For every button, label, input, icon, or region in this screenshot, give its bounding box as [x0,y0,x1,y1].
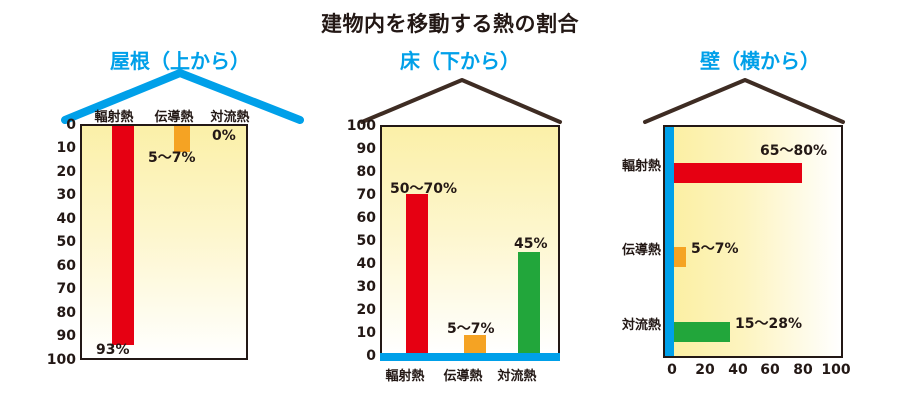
xtick-wall-60: 60 [755,362,785,378]
xtick-wall-0: 0 [657,362,687,378]
ytick-roof-20: 20 [40,164,76,180]
ytick-floor-100: 100 [330,118,376,134]
panel-roof: 屋根（上から） 輻射熱 伝導熱 対流熱 0 10 20 30 40 50 60 … [40,40,320,385]
category-label-wall-0: 輻射熱 [615,155,661,174]
panel-wall-title: 壁（横から） [645,45,875,74]
bar-floor-convection [518,252,540,353]
ytick-roof-30: 30 [40,187,76,203]
ytick-floor-90: 90 [330,141,376,157]
value-label-wall-radiant: 65〜80% [760,140,827,160]
page-title: 建物内を移動する熱の割合 [0,8,900,38]
ytick-floor-60: 60 [330,210,376,226]
ytick-floor-20: 20 [330,302,376,318]
category-label-wall-2: 対流熱 [615,314,661,333]
ytick-roof-80: 80 [40,305,76,321]
ytick-floor-80: 80 [330,164,376,180]
category-label-floor-2: 対流熱 [487,365,547,384]
value-label-roof-radiant: 93% [96,342,130,358]
ytick-floor-30: 30 [330,279,376,295]
xtick-wall-40: 40 [723,362,753,378]
value-label-wall-convection: 15〜28% [735,313,802,333]
category-label-roof-0: 輻射熱 [84,106,144,125]
ytick-roof-100: 100 [40,352,76,368]
value-label-roof-convection: 0% [212,128,236,144]
category-label-floor-1: 伝導熱 [433,365,493,384]
category-label-roof-1: 伝導熱 [144,106,204,125]
category-label-floor-0: 輻射熱 [375,365,435,384]
bar-wall-convection [674,322,730,342]
wall-line [665,127,674,358]
bar-wall-radiant [674,163,802,183]
category-label-roof-2: 対流熱 [200,106,260,125]
bar-roof-radiant [112,126,134,345]
bar-floor-radiant [406,194,428,353]
panel-floor-title: 床（下から） [340,45,580,74]
xtick-wall-80: 80 [788,362,818,378]
value-label-floor-convection: 45% [514,236,548,252]
value-label-floor-radiant: 50〜70% [390,178,457,198]
ytick-roof-90: 90 [40,328,76,344]
ytick-floor-0: 0 [330,348,376,364]
value-label-wall-conduction: 5〜7% [691,238,739,258]
ytick-roof-10: 10 [40,140,76,156]
ytick-floor-10: 10 [330,325,376,341]
ytick-floor-70: 70 [330,187,376,203]
panel-wall: 壁（横から） 輻射熱 伝導熱 対流熱 65〜80% 5〜7% 15〜28% 0 … [615,40,900,385]
ytick-roof-0: 0 [40,117,76,133]
ytick-floor-40: 40 [330,256,376,272]
value-label-roof-conduction: 5〜7% [148,147,196,167]
value-label-floor-conduction: 5〜7% [447,318,495,338]
floor-line [380,353,560,361]
xtick-wall-100: 100 [818,362,854,378]
category-label-wall-1: 伝導熱 [615,239,661,258]
ytick-roof-70: 70 [40,281,76,297]
xtick-wall-20: 20 [690,362,720,378]
ytick-roof-40: 40 [40,211,76,227]
bar-wall-conduction [674,247,686,267]
ytick-roof-50: 50 [40,234,76,250]
panel-floor: 床（下から） 100 90 80 70 60 50 40 30 20 10 0 … [330,40,610,385]
infographic-canvas: 建物内を移動する熱の割合 屋根（上から） 輻射熱 伝導熱 対流熱 0 10 20… [0,0,900,400]
ytick-floor-50: 50 [330,233,376,249]
ytick-roof-60: 60 [40,258,76,274]
